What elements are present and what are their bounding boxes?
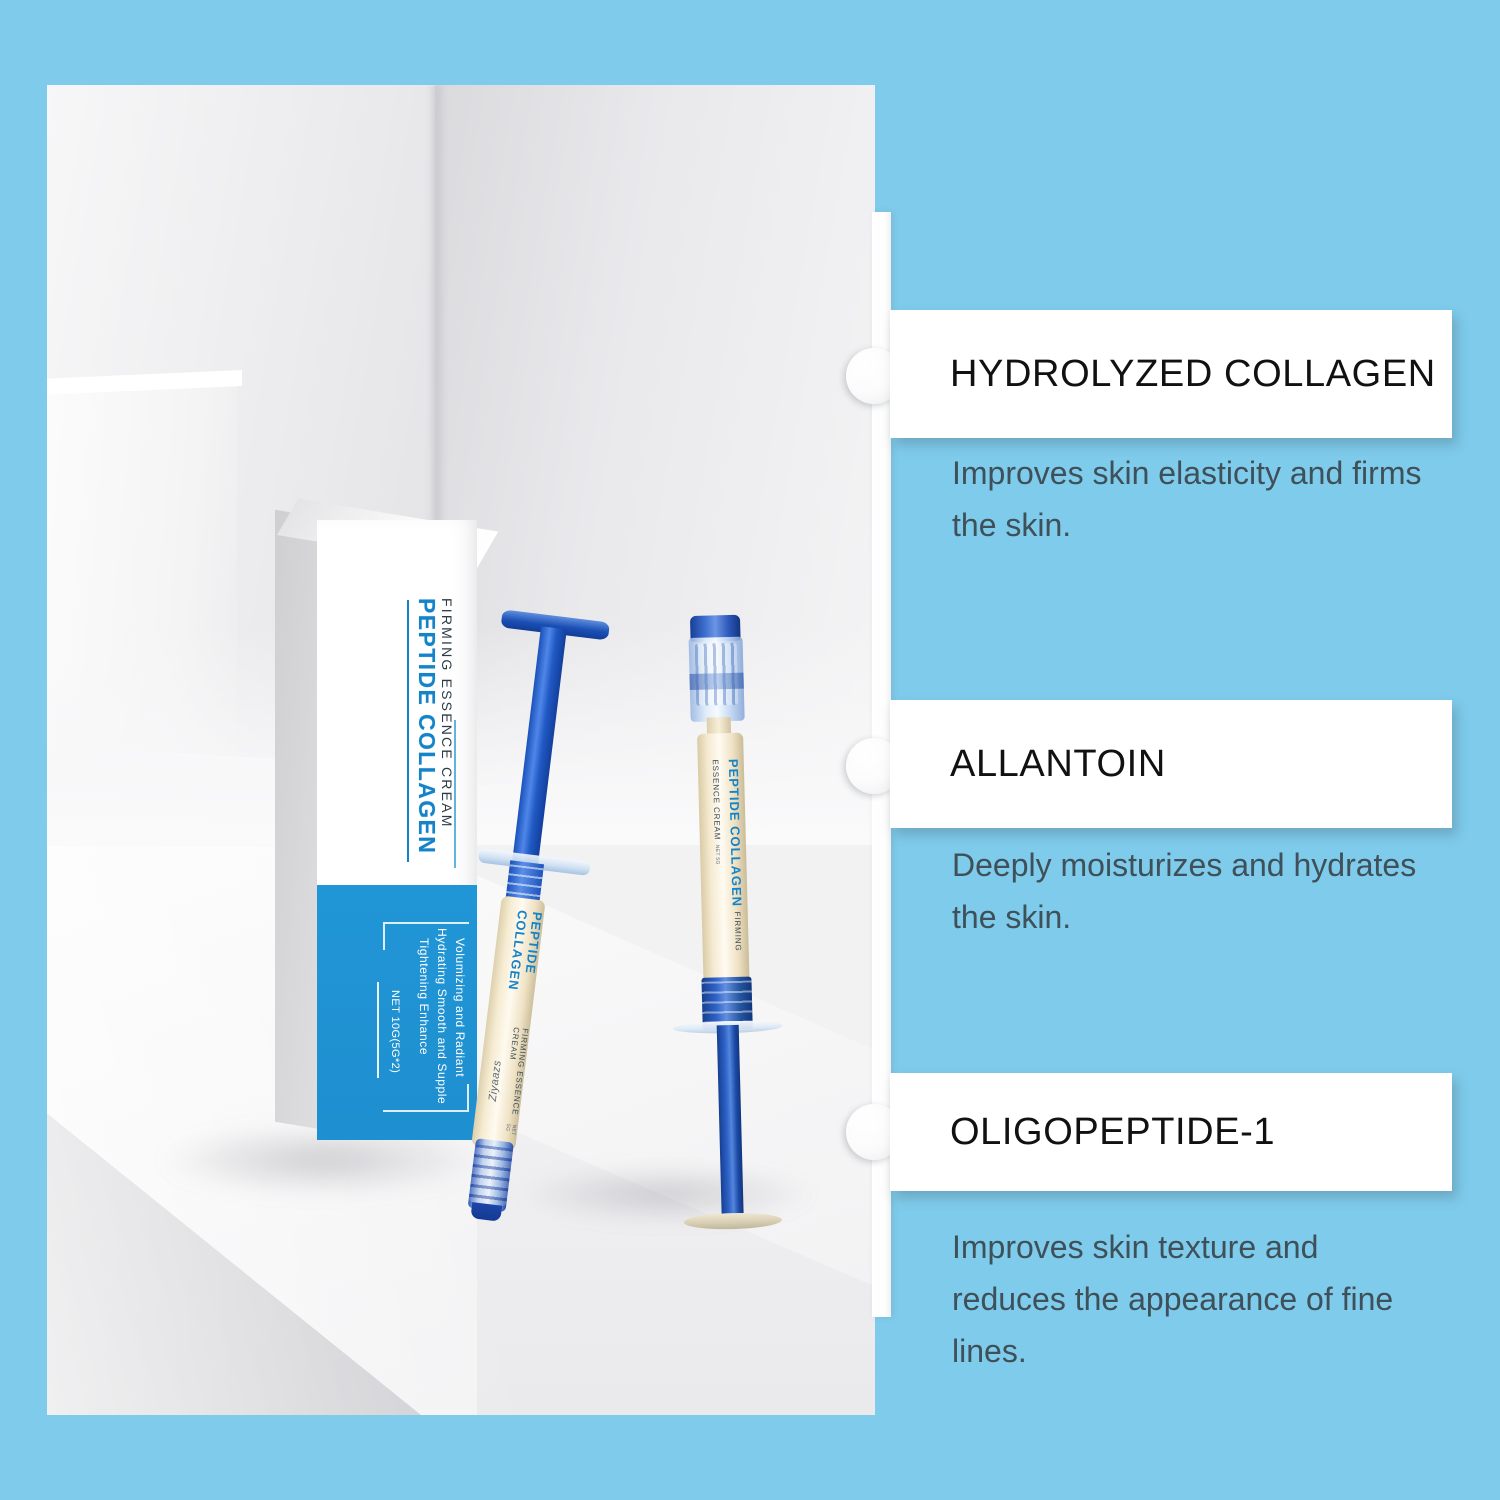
syringe-front-cap-ribs — [468, 1144, 513, 1206]
syringe-applicator-back: PEPTIDE COLLAGEN FIRMING ESSENCE CREAM N… — [654, 611, 810, 1234]
syringe-back-plunger-rod — [717, 1025, 744, 1226]
syringe-front-net-weight: NET 5G — [503, 1124, 517, 1141]
carton-net-rule — [377, 982, 379, 1078]
callout-title-2: ALLANTOIN — [890, 743, 1166, 786]
syringe-back-cap-band — [689, 673, 743, 690]
carton-title: PEPTIDE COLLAGEN — [413, 598, 440, 854]
syringe-front-cap-tip — [470, 1202, 502, 1222]
syringe-back-label: PEPTIDE COLLAGEN FIRMING ESSENCE CREAM N… — [700, 759, 748, 976]
syringe-back-base-disc — [684, 1212, 782, 1231]
syringe-front-label: PEPTIDE COLLAGEN FIRMING ESSENCE CREAM N… — [474, 908, 542, 1141]
syringe-back-net-weight: NET 5G — [714, 845, 721, 865]
syringe-front-plunger-rod — [510, 626, 567, 879]
callout-description-2: Deeply moisturizes and hydrates the skin… — [952, 840, 1422, 944]
callout-description-1: Improves skin elasticity and firms the s… — [952, 448, 1422, 552]
carton-net-weight: NET 10G(5G*2) — [389, 990, 401, 1073]
callout-card-allantoin: ALLANTOIN — [890, 700, 1452, 828]
syringe-front-subtitle: FIRMING ESSENCE CREAM — [500, 1026, 530, 1125]
syringe-back-title: PEPTIDE COLLAGEN — [726, 759, 745, 908]
callout-title-3: OLIGOPEPTIDE-1 — [890, 1111, 1275, 1154]
callout-card-hydrolyzed-collagen: HYDROLYZED COLLAGEN — [890, 310, 1452, 438]
carton-subtitle: FIRMING ESSENCE CREAM — [439, 598, 455, 829]
carton-side-panel — [275, 510, 319, 1129]
carton-benefit-1: Tightening Enhance — [417, 938, 431, 1055]
syringe-back-collar-ribs — [702, 981, 753, 1026]
callout-card-oligopeptide-1: OLIGOPEPTIDE-1 — [890, 1073, 1452, 1191]
syringe-front-title: PEPTIDE COLLAGEN — [501, 909, 545, 1028]
carton-accent-rule — [407, 600, 409, 862]
callout-title-1: HYDROLYZED COLLAGEN — [890, 353, 1436, 396]
product-photo-panel: PEPTIDE COLLAGEN FIRMING ESSENCE CREAM T… — [47, 85, 875, 1415]
callout-description-3: Improves skin texture and reduces the ap… — [952, 1222, 1422, 1377]
